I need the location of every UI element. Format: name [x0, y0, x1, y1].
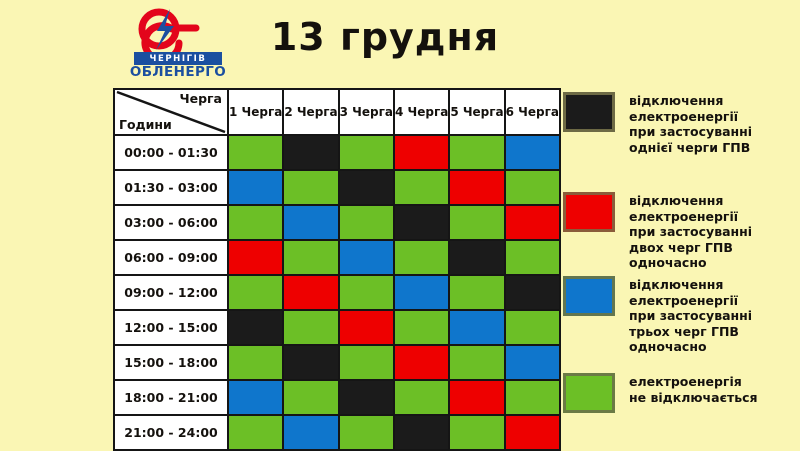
- slot-cell-q4-r4: [394, 240, 449, 275]
- row-header-hours: 21:00 - 24:00: [114, 415, 228, 450]
- slot-cell-q3-r6: [339, 310, 394, 345]
- slot-cell-q6-r1: [505, 135, 560, 170]
- slot-cell-q2-r3: [283, 205, 338, 240]
- table-row: 00:00 - 01:30: [114, 135, 560, 170]
- slot-cell-q1-r8: [228, 380, 283, 415]
- slot-cell-q5-r2: [449, 170, 504, 205]
- slot-cell-q6-r9: [505, 415, 560, 450]
- table-row: 09:00 - 12:00: [114, 275, 560, 310]
- row-header-hours: 09:00 - 12:00: [114, 275, 228, 310]
- slot-cell-q6-r4: [505, 240, 560, 275]
- legend-item-red: відключення електроенергії при застосува…: [563, 192, 752, 271]
- slot-cell-q6-r6: [505, 310, 560, 345]
- slot-cell-q4-r3: [394, 205, 449, 240]
- slot-cell-q1-r9: [228, 415, 283, 450]
- table-row: 01:30 - 03:00: [114, 170, 560, 205]
- slot-cell-q4-r8: [394, 380, 449, 415]
- slot-cell-q1-r1: [228, 135, 283, 170]
- legend-label-red: відключення електроенергії при застосува…: [629, 192, 752, 271]
- slot-cell-q2-r1: [283, 135, 338, 170]
- table-body: 00:00 - 01:3001:30 - 03:0003:00 - 06:000…: [114, 135, 560, 450]
- slot-cell-q1-r2: [228, 170, 283, 205]
- row-header-hours: 01:30 - 03:00: [114, 170, 228, 205]
- slot-cell-q5-r7: [449, 345, 504, 380]
- slot-cell-q2-r2: [283, 170, 338, 205]
- page-title: 13 грудня: [250, 14, 520, 60]
- row-header-hours: 12:00 - 15:00: [114, 310, 228, 345]
- slot-cell-q4-r7: [394, 345, 449, 380]
- slot-cell-q3-r7: [339, 345, 394, 380]
- legend-label-green: електроенергія не відключається: [629, 373, 758, 405]
- slot-cell-q3-r9: [339, 415, 394, 450]
- slot-cell-q3-r3: [339, 205, 394, 240]
- legend-swatch-black: [563, 92, 615, 132]
- slot-cell-q5-r1: [449, 135, 504, 170]
- slot-cell-q5-r8: [449, 380, 504, 415]
- slot-cell-q5-r4: [449, 240, 504, 275]
- legend-swatch-green: [563, 373, 615, 413]
- legend-label-black: відключення електроенергії при застосува…: [629, 92, 752, 155]
- legend-swatch-blue: [563, 276, 615, 316]
- column-header-queue-4: 4 Черга: [394, 89, 449, 135]
- slot-cell-q1-r5: [228, 275, 283, 310]
- table-row: 15:00 - 18:00: [114, 345, 560, 380]
- slot-cell-q6-r8: [505, 380, 560, 415]
- slot-cell-q3-r1: [339, 135, 394, 170]
- slot-cell-q2-r6: [283, 310, 338, 345]
- slot-cell-q1-r3: [228, 205, 283, 240]
- column-header-queue-3: 3 Черга: [339, 89, 394, 135]
- row-header-hours: 18:00 - 21:00: [114, 380, 228, 415]
- row-header-hours: 15:00 - 18:00: [114, 345, 228, 380]
- column-header-queue-1: 1 Черга: [228, 89, 283, 135]
- slot-cell-q1-r6: [228, 310, 283, 345]
- slot-cell-q3-r8: [339, 380, 394, 415]
- oblenergo-emblem-icon: [126, 6, 230, 52]
- table-header-row: Черга Години 1 Черга 2 Черга 3 Черга 4 Ч…: [114, 89, 560, 135]
- legend-label-blue: відключення електроенергії при застосува…: [629, 276, 752, 355]
- table-row: 18:00 - 21:00: [114, 380, 560, 415]
- slot-cell-q2-r5: [283, 275, 338, 310]
- column-header-queue-6: 6 Черга: [505, 89, 560, 135]
- slot-cell-q2-r4: [283, 240, 338, 275]
- table-row: 06:00 - 09:00: [114, 240, 560, 275]
- slot-cell-q6-r5: [505, 275, 560, 310]
- corner-queue-label: Черга: [180, 91, 223, 106]
- legend-item-green: електроенергія не відключається: [563, 373, 758, 413]
- row-header-hours: 00:00 - 01:30: [114, 135, 228, 170]
- slot-cell-q5-r3: [449, 205, 504, 240]
- slot-cell-q2-r8: [283, 380, 338, 415]
- slot-cell-q6-r2: [505, 170, 560, 205]
- logo-company-label: ОБЛЕНЕРГО: [126, 65, 230, 80]
- slot-cell-q4-r2: [394, 170, 449, 205]
- slot-cell-q4-r1: [394, 135, 449, 170]
- outage-schedule-table: Черга Години 1 Черга 2 Черга 3 Черга 4 Ч…: [113, 88, 561, 451]
- slot-cell-q3-r2: [339, 170, 394, 205]
- slot-cell-q3-r4: [339, 240, 394, 275]
- table-row: 12:00 - 15:00: [114, 310, 560, 345]
- slot-cell-q6-r7: [505, 345, 560, 380]
- slot-cell-q5-r9: [449, 415, 504, 450]
- slot-cell-q3-r5: [339, 275, 394, 310]
- row-header-hours: 03:00 - 06:00: [114, 205, 228, 240]
- legend-item-blue: відключення електроенергії при застосува…: [563, 276, 752, 355]
- slot-cell-q2-r7: [283, 345, 338, 380]
- slot-cell-q5-r6: [449, 310, 504, 345]
- slot-cell-q1-r4: [228, 240, 283, 275]
- slot-cell-q4-r6: [394, 310, 449, 345]
- column-header-queue-5: 5 Черга: [449, 89, 504, 135]
- slot-cell-q4-r9: [394, 415, 449, 450]
- slot-cell-q2-r9: [283, 415, 338, 450]
- slot-cell-q1-r7: [228, 345, 283, 380]
- slot-cell-q6-r3: [505, 205, 560, 240]
- slot-cell-q5-r5: [449, 275, 504, 310]
- corner-hours-label: Години: [119, 117, 172, 132]
- legend-swatch-red: [563, 192, 615, 232]
- table-row: 03:00 - 06:00: [114, 205, 560, 240]
- column-header-queue-2: 2 Черга: [283, 89, 338, 135]
- table-corner-cell: Черга Години: [114, 89, 228, 135]
- table-header: Черга Години 1 Черга 2 Черга 3 Черга 4 Ч…: [114, 89, 560, 135]
- company-logo: ЧЕРНІГІВ ОБЛЕНЕРГО: [126, 6, 230, 80]
- table-row: 21:00 - 24:00: [114, 415, 560, 450]
- slot-cell-q4-r5: [394, 275, 449, 310]
- legend-item-black: відключення електроенергії при застосува…: [563, 92, 752, 155]
- row-header-hours: 06:00 - 09:00: [114, 240, 228, 275]
